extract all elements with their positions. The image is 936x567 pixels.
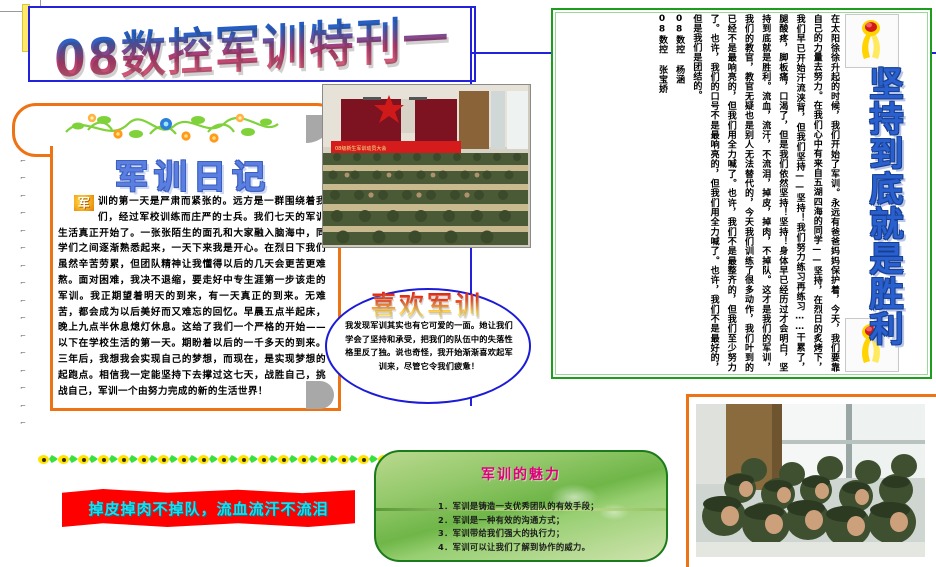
slogan-text: 掉皮掉肉不掉队，流血流汗不流泪 [62, 498, 355, 519]
svg-text:08级新生军训动员大会: 08级新生军训动员大会 [335, 145, 386, 152]
diary-dropcap: 军 [74, 195, 94, 211]
slogan-banner[interactable]: 掉皮掉肉不掉队，流血流汗不流泪 [62, 489, 355, 527]
persevere-signature-1: 08数控 杨涵 [670, 14, 687, 372]
photo-classroom-image [696, 404, 925, 557]
list-item: 3．军训带给我们强大的执行力； [438, 527, 668, 541]
persevere-paragraph: 在太阳徐徐升起的时候，我们开始了军训。永远有爸爸妈妈保护着，今天，我们要靠自己的… [691, 14, 839, 372]
photo-classroom[interactable] [686, 394, 936, 567]
persevere-body-text: 在太阳徐徐升起的时候，我们开始了军训。永远有爸爸妈妈保护着，今天，我们要靠自己的… [558, 14, 842, 372]
floral-scroll-ornament-icon [56, 108, 286, 146]
list-item: 1．军训是铸造一支优秀团队的有效手段； [438, 500, 668, 514]
persevere-signature-2: 08数控 张宝娇 [653, 14, 670, 372]
paragraph-marks: ⌐⌐⌐⌐⌐⌐ ⌐⌐⌐⌐⌐⌐ ⌐⌐⌐⌐⌐ [20, 135, 34, 445]
masthead-frame[interactable]: 08数控军训特刊一 [28, 6, 476, 82]
yellow-ribbon-icon-top [845, 14, 899, 68]
list-item: 4．军训可以让我们了解到协作的威力。 [438, 541, 668, 555]
training-charm-list: 1．军训是铸造一支优秀团队的有效手段； 2．军训是一种有效的沟通方式； 3．军训… [398, 500, 668, 554]
liked-training-text: 我发现军训其实也有它可爱的一面。她让我们学会了坚持和承受，把我们的队伍中的失落性… [345, 319, 513, 395]
liked-training-title: 喜欢军训 [345, 285, 509, 319]
flower-divider [38, 448, 360, 470]
diary-body-paragraph: 训的第一天是严肃而紧张的。远方是一群围绕着我们，经过军校训练而庄严的士兵。我们七… [58, 196, 326, 397]
masthead-wordart-title: 08数控军训特刊一 [30, 0, 474, 96]
newsletter-page: ⌐⌐⌐⌐⌐⌐ ⌐⌐⌐⌐⌐⌐ ⌐⌐⌐⌐⌐ 08数控军训特刊一 [0, 0, 936, 567]
persevere-title: 坚持到底就是胜利 [852, 66, 900, 322]
photo-auditorium[interactable]: 08级新生军训动员大会 [322, 84, 531, 248]
training-charm-title: 军训的魅力 [376, 464, 666, 484]
training-charm-box[interactable]: 军训的魅力 1．军训是铸造一支优秀团队的有效手段； 2．军训是一种有效的沟通方式… [374, 450, 668, 562]
diary-body-text: 军训的第一天是严肃而紧张的。远方是一群围绕着我们，经过军校训练而庄严的士兵。我们… [58, 194, 326, 402]
diary-title: 军训日记 [78, 150, 308, 192]
list-item: 2．军训是一种有效的沟通方式； [438, 514, 668, 528]
